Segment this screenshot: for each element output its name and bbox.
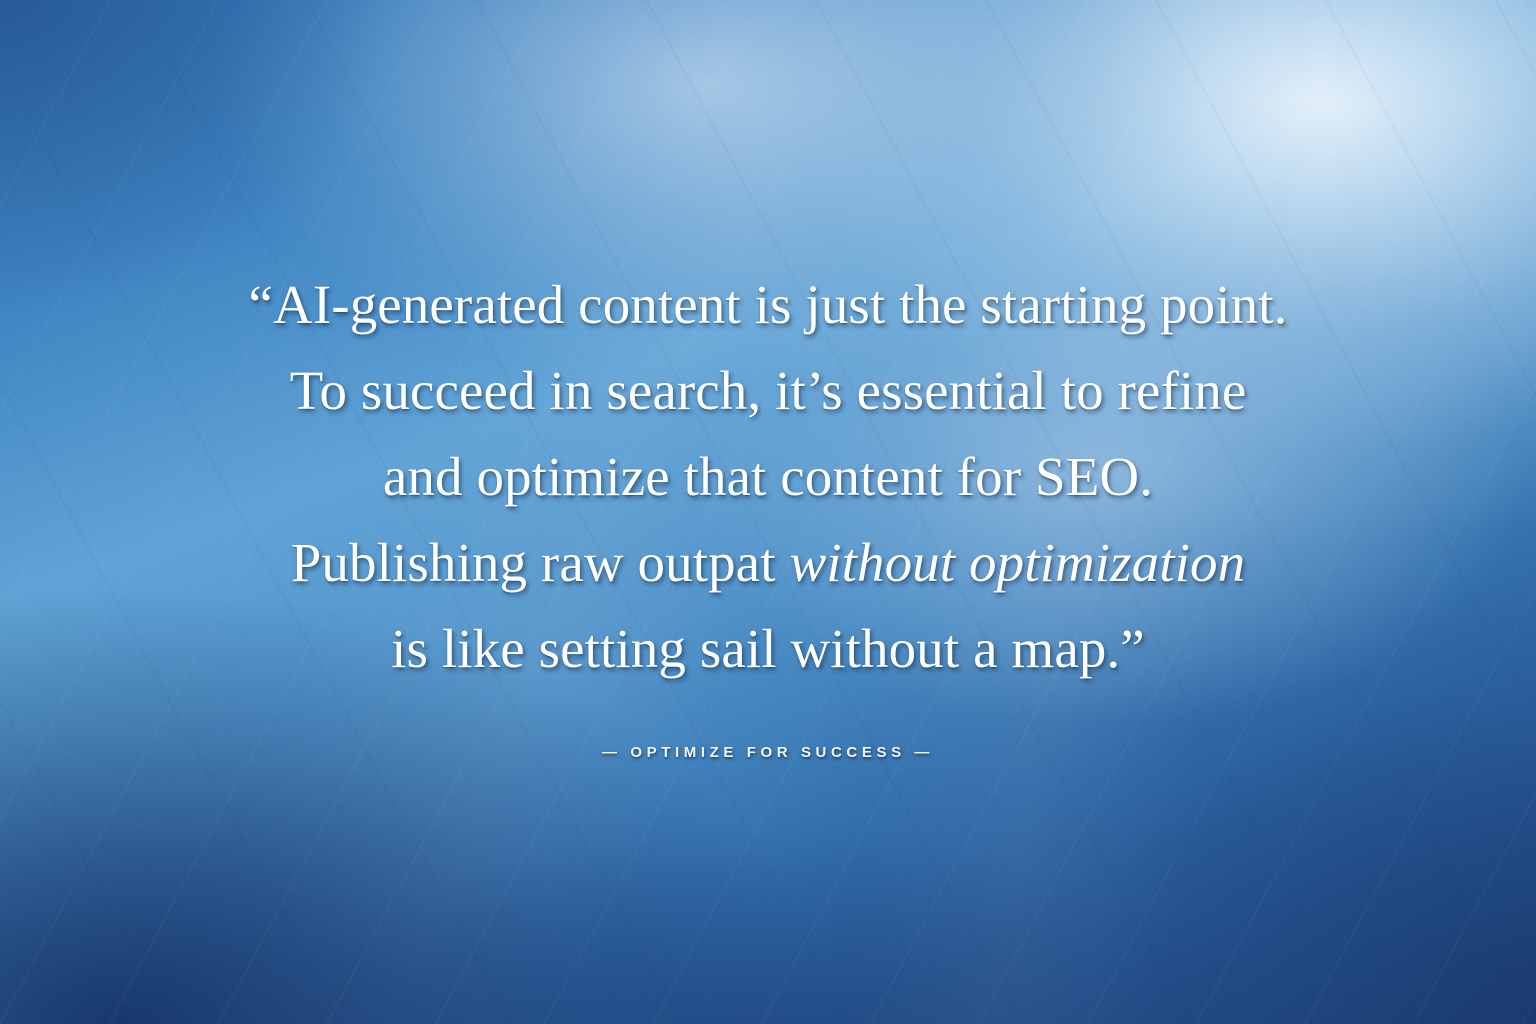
quote-line-5: is like setting sail without a map.” — [249, 606, 1288, 692]
quote-line-4-text: Publishing raw outpat — [291, 532, 790, 593]
quote-line-5-text: is like setting sail without a map.” — [391, 618, 1145, 679]
poster-content: “AI-generated content is just the starti… — [0, 0, 1536, 1024]
quote-line-4: Publishing raw outpat without optimizati… — [249, 520, 1288, 606]
quote-line-4-emphasis: without optimization — [789, 532, 1245, 593]
quote-line-1-text: “AI-generated content is just the starti… — [249, 274, 1288, 335]
quote-line-3: and optimize that content for SEO. — [249, 434, 1288, 520]
quote-line-2-text: To succeed in search, it’s essential to … — [290, 360, 1247, 421]
quote-line-2: To succeed in search, it’s essential to … — [249, 348, 1288, 434]
quote-poster: “AI-generated content is just the starti… — [0, 0, 1536, 1024]
quote-line-1: “AI-generated content is just the starti… — [249, 262, 1288, 348]
attribution-label: — OPTIMIZE FOR SUCCESS — — [602, 744, 934, 761]
quote-line-3-text: and optimize that content for SEO. — [383, 446, 1153, 507]
quote-text: “AI-generated content is just the starti… — [249, 262, 1288, 692]
